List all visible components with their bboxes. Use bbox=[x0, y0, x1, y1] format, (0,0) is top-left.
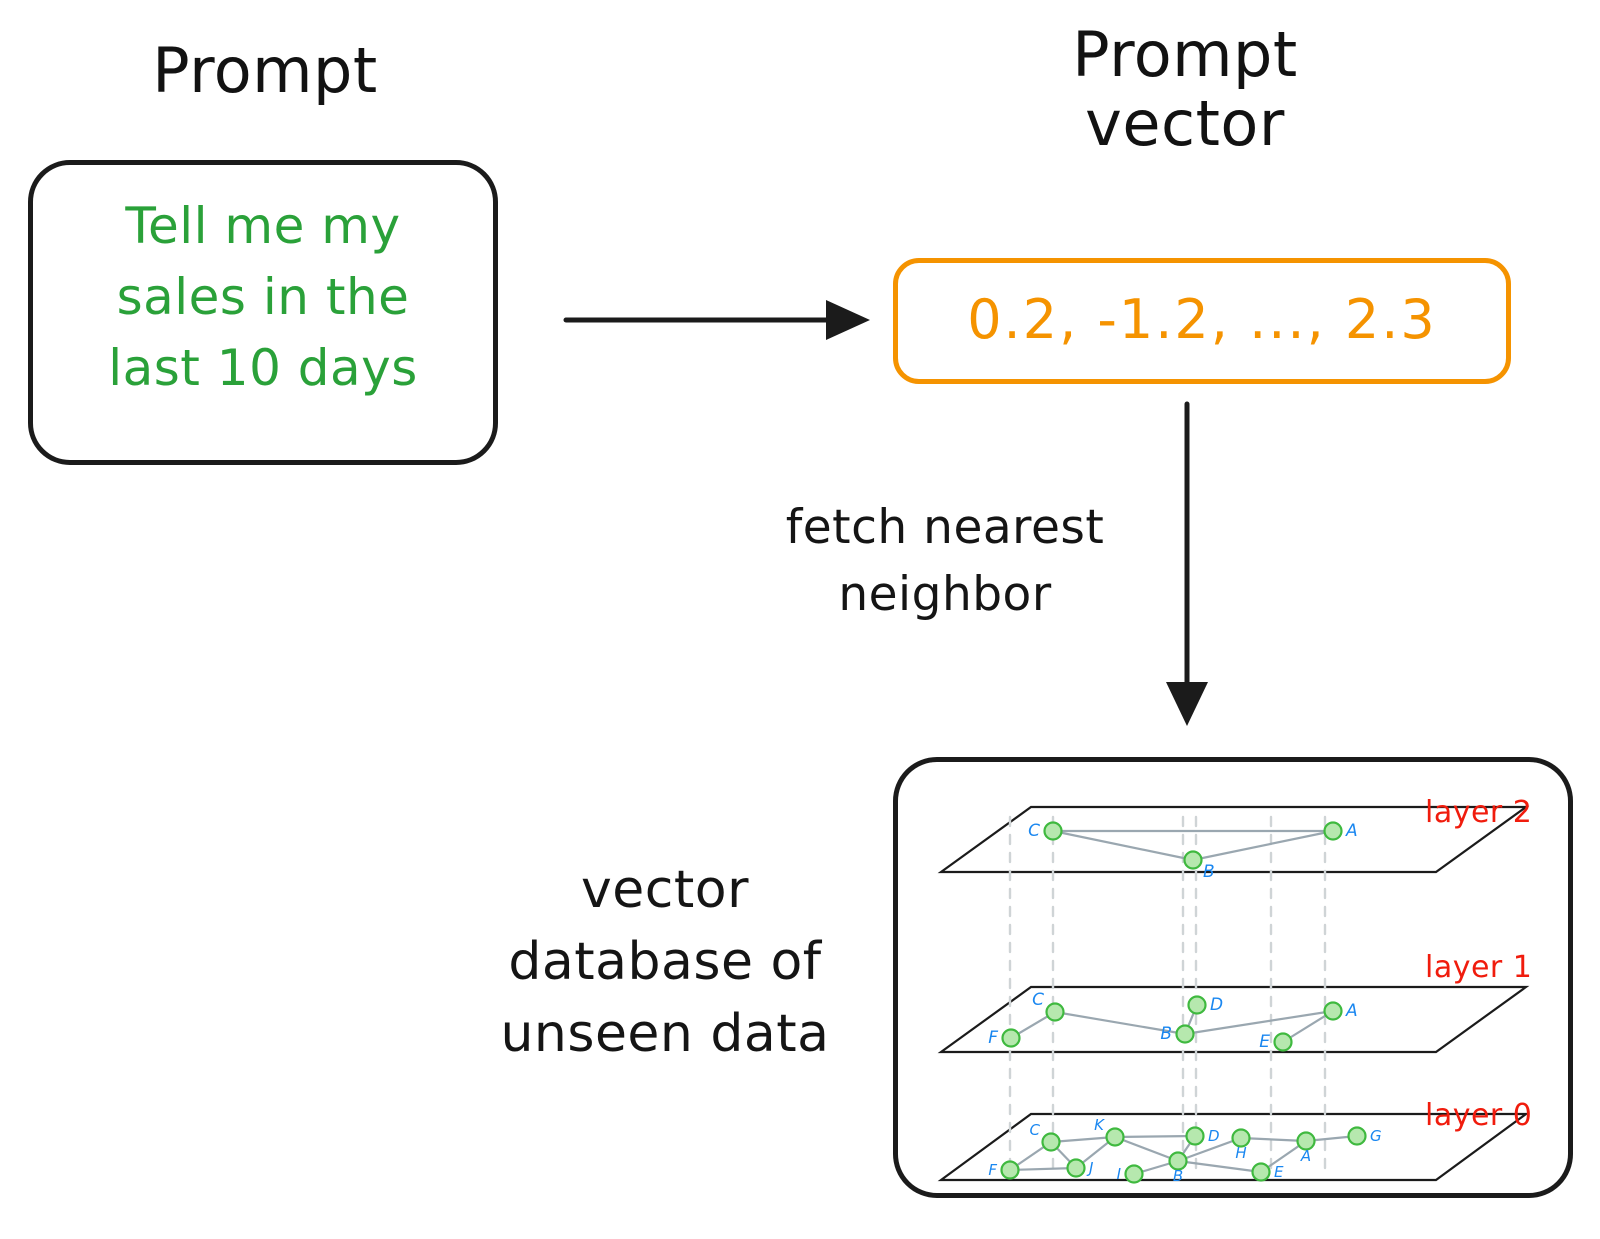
node-E[interactable] bbox=[1253, 1164, 1270, 1181]
edge-K-B bbox=[1115, 1137, 1178, 1161]
node-K[interactable] bbox=[1107, 1129, 1124, 1146]
arrow-prompt-to-vector bbox=[566, 300, 870, 340]
edge-F-J bbox=[1010, 1168, 1076, 1170]
edge-C-B bbox=[1053, 831, 1193, 860]
node-A[interactable] bbox=[1325, 823, 1342, 840]
node-I[interactable] bbox=[1126, 1166, 1143, 1183]
node-label-F: F bbox=[988, 1161, 997, 1179]
node-label-B: B bbox=[1160, 1024, 1172, 1044]
layer-plane-1 bbox=[941, 987, 1526, 1052]
node-label-H: H bbox=[1235, 1144, 1246, 1162]
node-C[interactable] bbox=[1043, 1134, 1060, 1151]
node-A[interactable] bbox=[1325, 1003, 1342, 1020]
node-D[interactable] bbox=[1187, 1128, 1204, 1145]
edge-B-E bbox=[1178, 1161, 1261, 1172]
layer-label-0: layer 0 bbox=[1425, 1098, 1532, 1133]
node-label-J: J bbox=[1086, 1159, 1093, 1177]
node-F[interactable] bbox=[1003, 1030, 1020, 1047]
layer-label-2: layer 2 bbox=[1425, 795, 1532, 830]
node-label-A: A bbox=[1345, 1001, 1358, 1021]
prompt-text: Tell me my sales in the last 10 days bbox=[33, 191, 493, 404]
node-C[interactable] bbox=[1047, 1004, 1064, 1021]
node-label-I: I bbox=[1117, 1165, 1122, 1183]
layer-group-layer-1: FCBDAE bbox=[988, 990, 1357, 1052]
prompt-vector-value: 0.2, -1.2, ..., 2.3 bbox=[898, 288, 1506, 351]
node-C[interactable] bbox=[1045, 823, 1062, 840]
prompt-box: Tell me my sales in the last 10 days bbox=[28, 160, 498, 465]
edge-B-A bbox=[1193, 831, 1333, 860]
node-label-C: C bbox=[1028, 821, 1040, 841]
node-label-D: D bbox=[1208, 1127, 1220, 1145]
node-label-C: C bbox=[1030, 1121, 1041, 1139]
node-G[interactable] bbox=[1349, 1128, 1366, 1145]
layer-group-layer-0: CKDHAGFJIBE bbox=[988, 1116, 1381, 1185]
vector-database-caption: vector database of unseen data bbox=[430, 855, 900, 1070]
prompt-vector-box: 0.2, -1.2, ..., 2.3 bbox=[893, 258, 1511, 384]
diagram-canvas: Prompt Tell me my sales in the last 10 d… bbox=[0, 0, 1600, 1239]
layer-label-1: layer 1 bbox=[1425, 950, 1532, 985]
node-B[interactable] bbox=[1177, 1026, 1194, 1043]
node-label-A: A bbox=[1300, 1147, 1311, 1165]
fetch-nearest-neighbor-label: fetch nearest neighbor bbox=[700, 495, 1190, 628]
node-label-E: E bbox=[1274, 1163, 1284, 1181]
node-label-B: B bbox=[1203, 862, 1215, 882]
node-label-A: A bbox=[1345, 821, 1358, 841]
node-label-B: B bbox=[1173, 1167, 1183, 1185]
node-E[interactable] bbox=[1275, 1034, 1292, 1051]
edge-B-A bbox=[1185, 1011, 1333, 1034]
node-J[interactable] bbox=[1068, 1160, 1085, 1177]
edge-K-D bbox=[1115, 1136, 1195, 1137]
edge-C-K bbox=[1051, 1137, 1115, 1142]
node-B[interactable] bbox=[1185, 852, 1202, 869]
prompt-vector-title: Prompt vector bbox=[965, 20, 1405, 159]
node-F[interactable] bbox=[1002, 1162, 1019, 1179]
node-D[interactable] bbox=[1189, 997, 1206, 1014]
prompt-title: Prompt bbox=[30, 38, 500, 103]
node-label-C: C bbox=[1032, 990, 1044, 1010]
node-label-K: K bbox=[1094, 1116, 1105, 1134]
edge-H-A bbox=[1241, 1138, 1306, 1141]
node-label-F: F bbox=[988, 1028, 998, 1048]
node-label-D: D bbox=[1210, 995, 1223, 1015]
node-label-E: E bbox=[1259, 1032, 1270, 1052]
node-label-G: G bbox=[1370, 1127, 1382, 1145]
